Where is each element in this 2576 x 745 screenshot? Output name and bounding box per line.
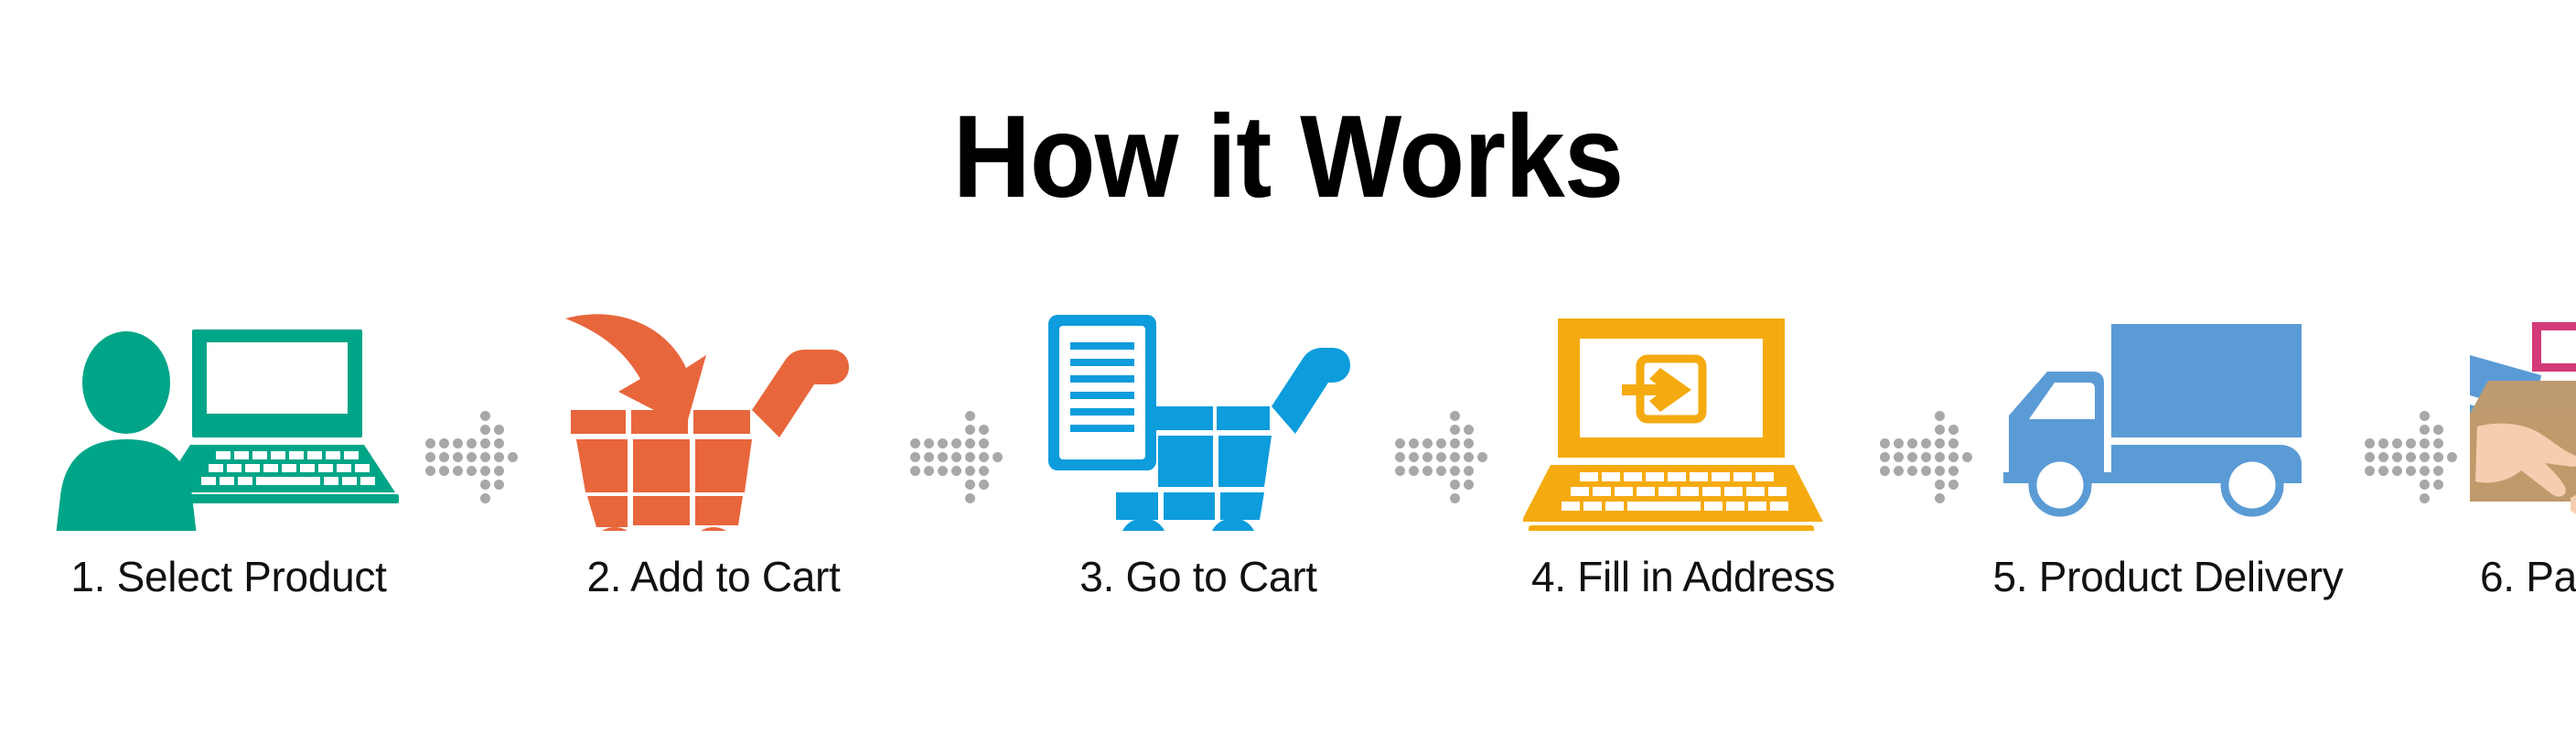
step-4-fill-in-address[interactable]: 4. Fill in Address [1491, 302, 1875, 599]
step-4-label: 4. Fill in Address [1531, 555, 1835, 599]
dotted-arrow-right-icon [2363, 409, 2459, 505]
step-1-label: 1. Select Product [70, 555, 386, 599]
step-6-pay-on-delivery[interactable]: $ [2461, 302, 2576, 599]
dotted-arrow-right-icon [424, 409, 520, 505]
step-2-label: 2. Add to Cart [586, 555, 840, 599]
dotted-arrow-right-icon [1393, 409, 1489, 505]
step-5-artwork [1976, 302, 2360, 531]
step-5-product-delivery[interactable]: 5. Product Delivery [1976, 302, 2360, 599]
how-it-works-infographic: How it Works [0, 0, 2576, 745]
separator-arrow-4 [1875, 342, 1976, 571]
delivery-truck-icon [1994, 302, 2342, 531]
dotted-arrow-right-icon [908, 409, 1004, 505]
dotted-arrow-right-icon [1878, 409, 1974, 505]
step-6-artwork: $ [2461, 302, 2576, 531]
person-with-laptop-icon [46, 302, 412, 531]
page-title: How it Works [103, 99, 2474, 216]
separator-arrow-5 [2360, 342, 2461, 571]
document-with-cart-icon [1043, 302, 1354, 531]
separator-arrow-1 [421, 342, 521, 571]
step-1-artwork [37, 302, 421, 531]
step-5-label: 5. Product Delivery [1993, 555, 2344, 599]
step-3-go-to-cart[interactable]: 3. Go to Cart [1006, 302, 1390, 599]
step-2-add-to-cart[interactable]: 2. Add to Cart [521, 302, 906, 599]
separator-arrow-3 [1390, 342, 1491, 571]
laptop-with-login-arrow-icon [1523, 302, 1843, 531]
step-6-label: 6. Pay On Delivery [2480, 555, 2576, 599]
hands-exchanging-box-and-money-icon: $ [2470, 302, 2576, 531]
steps-row: 1. Select Product [37, 302, 2539, 686]
separator-arrow-2 [906, 342, 1006, 571]
step-3-artwork [1006, 302, 1390, 531]
step-3-label: 3. Go to Cart [1079, 555, 1316, 599]
step-4-artwork [1491, 302, 1875, 531]
shopping-cart-with-arrow-icon [549, 302, 878, 531]
banknote: $ [2532, 322, 2576, 372]
step-1-select-product[interactable]: 1. Select Product [37, 302, 421, 599]
step-2-artwork [521, 302, 906, 531]
